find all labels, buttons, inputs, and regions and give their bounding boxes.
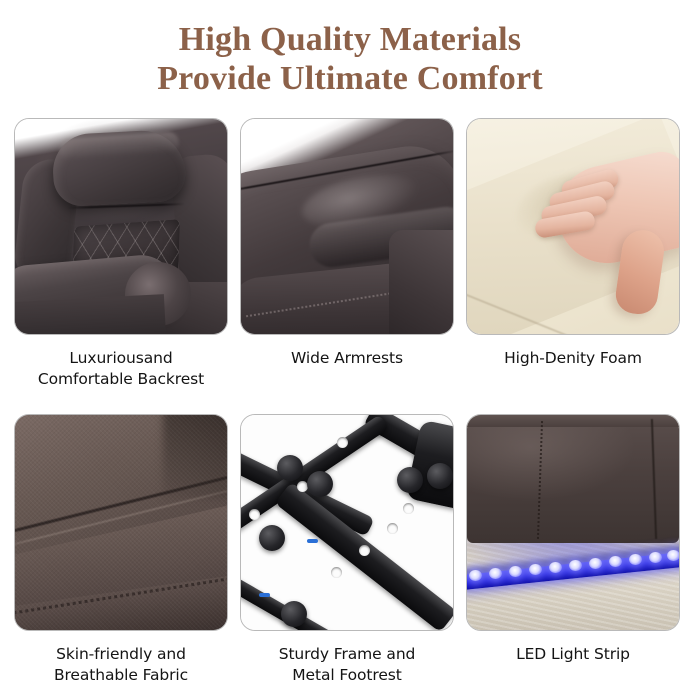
feature-row-top: Luxuriousand Comfortable Backrest: [14, 118, 680, 390]
frame-pivot-joint: [277, 455, 303, 481]
feature-cell-fabric: Skin-friendly and Breathable Fabric: [14, 414, 228, 686]
feature-cell-led: LED Light Strip: [466, 414, 680, 686]
caption-backrest: Luxuriousand Comfortable Backrest: [14, 348, 228, 390]
fabric-grain-texture: [15, 415, 227, 630]
frame-rivet-hole: [387, 523, 398, 534]
frame-rivet-hole: [337, 437, 348, 448]
title-line-2: Provide Ultimate Comfort: [0, 59, 700, 98]
image-foam: [466, 118, 680, 335]
caption-armrests-line-1: Wide Armrests: [240, 348, 454, 369]
led-bulb: [667, 550, 680, 561]
frame-pivot-joint: [397, 467, 423, 493]
frame-rivet-hole: [403, 503, 414, 514]
led-bulb: [649, 552, 662, 563]
backrest-base-panel: [14, 294, 166, 335]
led-bulb: [629, 554, 642, 565]
caption-foam-line-1: High-Denity Foam: [466, 348, 680, 369]
led-leather-base: [467, 415, 679, 543]
led-bulb: [569, 560, 582, 571]
led-bulb: [609, 556, 622, 567]
page-title: High Quality Materials Provide Ultimate …: [0, 20, 700, 98]
caption-led: LED Light Strip: [466, 644, 680, 665]
frame-rivet-hole: [249, 509, 260, 520]
led-bulb: [529, 564, 542, 575]
frame-blue-marker: [259, 593, 270, 597]
feature-cell-foam: High-Denity Foam: [466, 118, 680, 390]
image-frame: [240, 414, 454, 631]
frame-pivot-joint: [281, 601, 307, 627]
feature-row-bottom: Skin-friendly and Breathable Fabric: [14, 414, 680, 686]
feature-cell-frame: Sturdy Frame and Metal Footrest: [240, 414, 454, 686]
caption-fabric-line-1: Skin-friendly and: [14, 644, 228, 665]
feature-grid: Luxuriousand Comfortable Backrest: [14, 118, 680, 686]
caption-backrest-line-1: Luxuriousand: [14, 348, 228, 369]
caption-foam: High-Denity Foam: [466, 348, 680, 369]
caption-fabric: Skin-friendly and Breathable Fabric: [14, 644, 228, 686]
frame-rivet-hole: [359, 545, 370, 556]
caption-led-line-1: LED Light Strip: [466, 644, 680, 665]
feature-cell-armrests: Wide Armrests: [240, 118, 454, 390]
caption-backrest-line-2: Comfortable Backrest: [14, 369, 228, 390]
led-bulb: [469, 570, 482, 581]
frame-pivot-joint: [259, 525, 285, 551]
led-bulb: [589, 558, 602, 569]
led-leather-top-edge: [466, 414, 680, 427]
led-bulb: [509, 566, 522, 577]
armrest-side-panel: [389, 230, 454, 335]
frame-pivot-joint: [427, 463, 453, 489]
led-bulb: [549, 562, 562, 573]
frame-pivot-joint: [307, 471, 333, 497]
frame-rivet-hole: [331, 567, 342, 578]
frame-blue-marker: [307, 539, 318, 543]
product-feature-infographic: High Quality Materials Provide Ultimate …: [0, 0, 700, 700]
image-fabric: [14, 414, 228, 631]
caption-fabric-line-2: Breathable Fabric: [14, 665, 228, 686]
image-led: [466, 414, 680, 631]
feature-cell-backrest: Luxuriousand Comfortable Backrest: [14, 118, 228, 390]
caption-armrests: Wide Armrests: [240, 348, 454, 369]
image-armrests: [240, 118, 454, 335]
image-backrest: [14, 118, 228, 335]
caption-frame-line-1: Sturdy Frame and: [240, 644, 454, 665]
caption-frame-line-2: Metal Footrest: [240, 665, 454, 686]
title-line-1: High Quality Materials: [0, 20, 700, 59]
caption-frame: Sturdy Frame and Metal Footrest: [240, 644, 454, 686]
led-bulb: [489, 568, 502, 579]
